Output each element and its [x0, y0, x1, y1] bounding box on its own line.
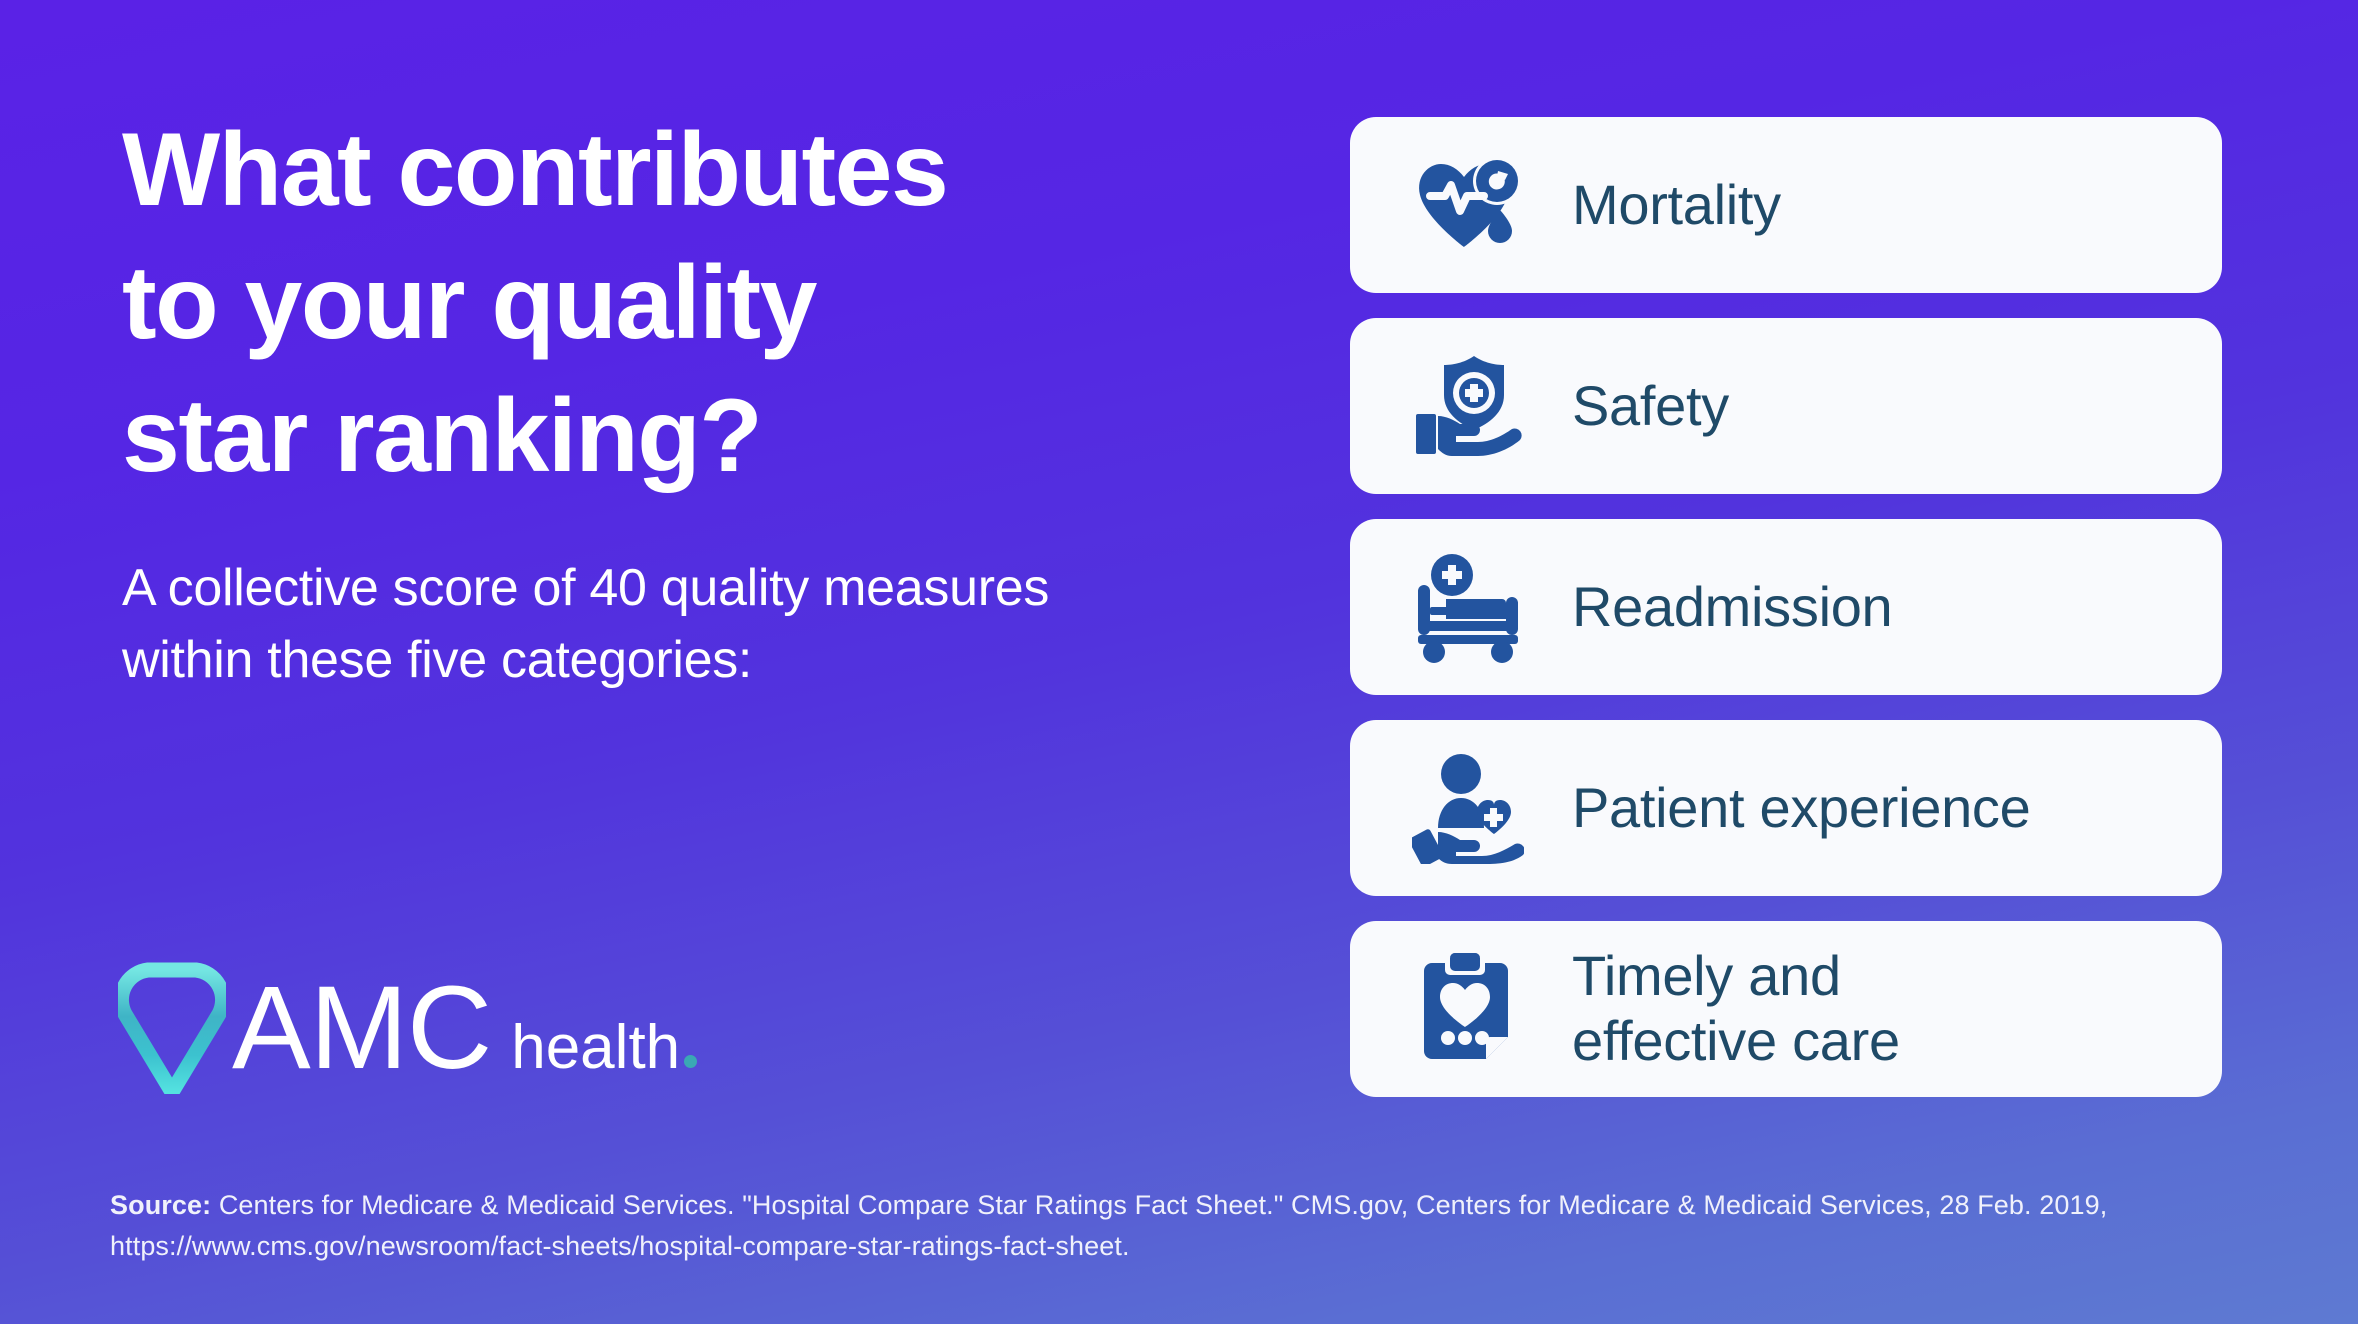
source-label: Source: — [110, 1190, 211, 1220]
category-card-safety[interactable]: Safety — [1350, 318, 2222, 494]
amc-pin-heart-icon — [118, 962, 226, 1094]
clipboard-heart-dots-icon — [1412, 953, 1524, 1065]
hand-person-heart-cross-icon — [1412, 752, 1524, 864]
hand-shield-medical-cross-icon — [1412, 350, 1524, 462]
left-content-column: What contributes to your quality star ra… — [122, 104, 1282, 696]
logo-dot — [684, 1055, 697, 1068]
category-card-readmission[interactable]: Readmission — [1350, 519, 2222, 695]
source-text: Centers for Medicare & Medicaid Services… — [110, 1190, 2107, 1261]
logo-amc-text: AMC — [232, 969, 491, 1087]
logo-wordmark: AMC health — [232, 969, 697, 1087]
amc-health-logo: AMC health — [118, 962, 697, 1094]
category-label: Mortality — [1572, 173, 1781, 238]
source-citation: Source: Centers for Medicare & Medicaid … — [110, 1185, 2280, 1266]
page-subtitle: A collective score of 40 quality measure… — [122, 503, 1282, 695]
category-label: Safety — [1572, 374, 1729, 439]
category-label: Timely and effective care — [1572, 944, 1900, 1074]
page-title: What contributes to your quality star ra… — [122, 104, 1282, 503]
logo-health-text: health — [511, 1017, 680, 1079]
category-card-list: Mortality Safety — [1350, 117, 2222, 1097]
heart-pulse-monitor-drop-icon — [1412, 149, 1524, 261]
category-card-mortality[interactable]: Mortality — [1350, 117, 2222, 293]
category-label: Patient experience — [1572, 776, 2030, 841]
hospital-bed-plus-icon — [1412, 551, 1524, 663]
category-card-timely-effective-care[interactable]: Timely and effective care — [1350, 921, 2222, 1097]
category-label: Readmission — [1572, 575, 1892, 640]
infographic-root: What contributes to your quality star ra… — [0, 0, 2358, 1324]
category-card-patient-experience[interactable]: Patient experience — [1350, 720, 2222, 896]
